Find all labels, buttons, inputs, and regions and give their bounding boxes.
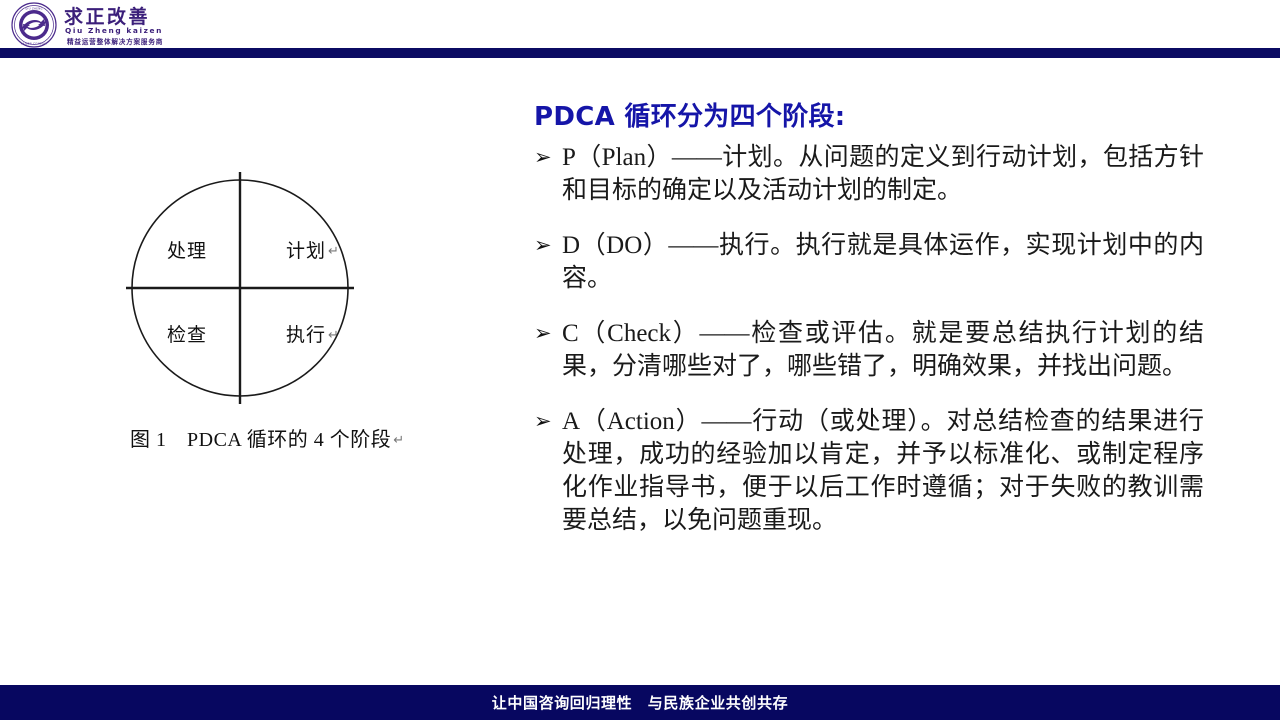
figure-caption: 图 1 PDCA 循环的 4 个阶段↵ — [130, 423, 405, 452]
bullet-item-plan: ➢ P（Plan）——计划。从问题的定义到行动计划，包括方针和目标的确定以及活动… — [534, 141, 1204, 207]
bullet-item-do: ➢ D（DO）——执行。执行就是具体运作，实现计划中的内容。 — [534, 229, 1204, 295]
pilcrow-icon: ↵ — [326, 328, 340, 343]
pilcrow-icon: ↵ — [391, 433, 404, 448]
logo-brand-pinyin: Qiu Zheng kaizen — [65, 26, 163, 35]
slide-footer: 让中国咨询回归理性 与民族企业共创共存 — [0, 685, 1280, 720]
pdca-figure: 处理 计划↵ 检查 执行↵ 图 1 PDCA 循环的 4 个阶段↵ — [120, 168, 450, 498]
bullet-text-plan: P（Plan）——计划。从问题的定义到行动计划，包括方针和目标的确定以及活动计划… — [562, 141, 1204, 207]
pdca-quadrant-text-action: 处理 — [167, 240, 207, 262]
header-divider-bar — [0, 48, 1280, 58]
slide-header: QIU ZHENG KAIZEN CONSULT 求正改善 Qiu Zheng … — [0, 0, 1280, 58]
content-column: PDCA 循环分为四个阶段: ➢ P（Plan）——计划。从问题的定义到行动计划… — [534, 96, 1204, 559]
pdca-quadrant-label-do: 执行↵ — [286, 320, 340, 347]
logo-brand-cn: 求正改善 — [64, 5, 150, 28]
pdca-quadrant-text-do: 执行 — [286, 324, 326, 346]
pdca-quadrant-label-plan: 计划↵ — [286, 236, 340, 263]
svg-text:QIU ZHENG: QIU ZHENG — [25, 7, 43, 11]
logo-tagline: 精益运营整体解决方案服务商 — [67, 37, 163, 46]
bullet-text-do: D（DO）——执行。执行就是具体运作，实现计划中的内容。 — [562, 229, 1204, 295]
pdca-quadrant-text-check: 检查 — [167, 324, 207, 346]
bullet-text-check: C（Check）——检查或评估。就是要总结执行计划的结果，分清哪些对了，哪些错了… — [562, 317, 1204, 383]
company-logo: QIU ZHENG KAIZEN CONSULT 求正改善 Qiu Zheng … — [8, 1, 198, 51]
bullet-text-action: A（Action）——行动（或处理）。对总结检查的结果进行处理，成功的经验加以肯… — [562, 405, 1204, 537]
footer-slogan: 让中国咨询回归理性 与民族企业共创共存 — [492, 692, 788, 713]
figure-caption-text: 图 1 PDCA 循环的 4 个阶段 — [130, 429, 391, 451]
svg-text:KAIZEN CONSULT: KAIZEN CONSULT — [21, 42, 48, 46]
pdca-quadrant-label-action: 处理 — [167, 236, 207, 263]
pdca-circle-diagram — [120, 168, 420, 413]
pdca-quadrant-text-plan: 计划 — [286, 240, 326, 262]
pdca-quadrant-label-check: 检查 — [167, 320, 207, 347]
slide-content-area: 处理 计划↵ 检查 执行↵ 图 1 PDCA 循环的 4 个阶段↵ PDCA 循… — [0, 58, 1280, 685]
bullet-item-action: ➢ A（Action）——行动（或处理）。对总结检查的结果进行处理，成功的经验加… — [534, 405, 1204, 537]
pilcrow-icon: ↵ — [326, 244, 340, 259]
bullet-item-check: ➢ C（Check）——检查或评估。就是要总结执行计划的结果，分清哪些对了，哪些… — [534, 317, 1204, 383]
logo-emblem-icon: QIU ZHENG KAIZEN CONSULT — [12, 3, 56, 47]
content-heading: PDCA 循环分为四个阶段: — [534, 96, 1204, 133]
